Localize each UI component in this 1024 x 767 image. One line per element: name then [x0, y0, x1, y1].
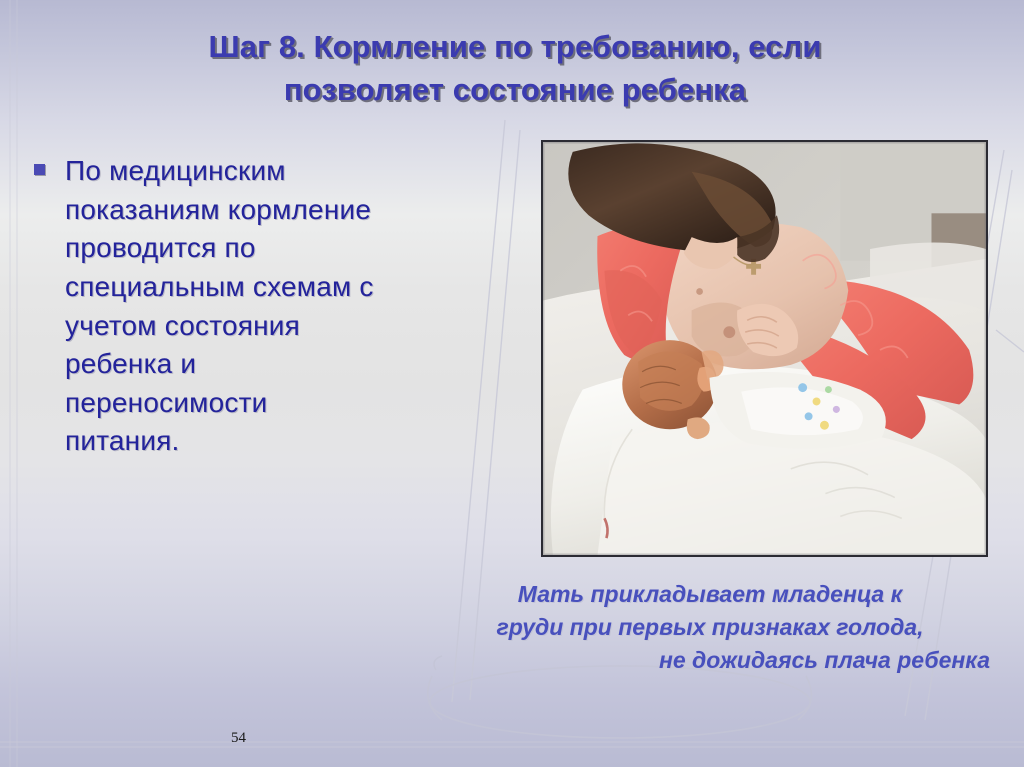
slide-title: Шаг 8. Кормление по требованию, если поз…: [80, 26, 950, 112]
body-text-line-1: По медицинским: [65, 152, 374, 191]
body-text-line-6: ребенка и: [65, 345, 374, 384]
photo-caption: Мать прикладывает младенца к груди при п…: [430, 578, 990, 677]
slide-title-line-2: позволяет состояние ребенка: [80, 69, 950, 112]
body-text-line-8: питания.: [65, 422, 374, 461]
photo-caption-line-3: не дожидаясь плача ребенка: [430, 644, 990, 677]
body-text-line-3: проводится по: [65, 229, 374, 268]
square-bullet-icon: [34, 164, 45, 175]
slide-number: 54: [231, 730, 246, 747]
body-bullet-block: По медицинским показаниям кормление пров…: [34, 152, 504, 461]
body-text-line-7: переносимости: [65, 384, 374, 423]
photo-caption-line-1: Мать прикладывает младенца к: [430, 578, 990, 611]
presentation-slide: Шаг 8. Кормление по требованию, если поз…: [0, 0, 1024, 767]
body-text: По медицинским показаниям кормление пров…: [65, 152, 374, 461]
slide-title-line-1: Шаг 8. Кормление по требованию, если: [80, 26, 950, 69]
body-text-line-5: учетом состояния: [65, 307, 374, 346]
breastfeeding-photo: [541, 140, 988, 557]
photo-caption-line-2: груди при первых признаках голода,: [430, 611, 990, 644]
body-text-line-2: показаниям кормление: [65, 191, 374, 230]
body-text-line-4: специальным схемам с: [65, 268, 374, 307]
